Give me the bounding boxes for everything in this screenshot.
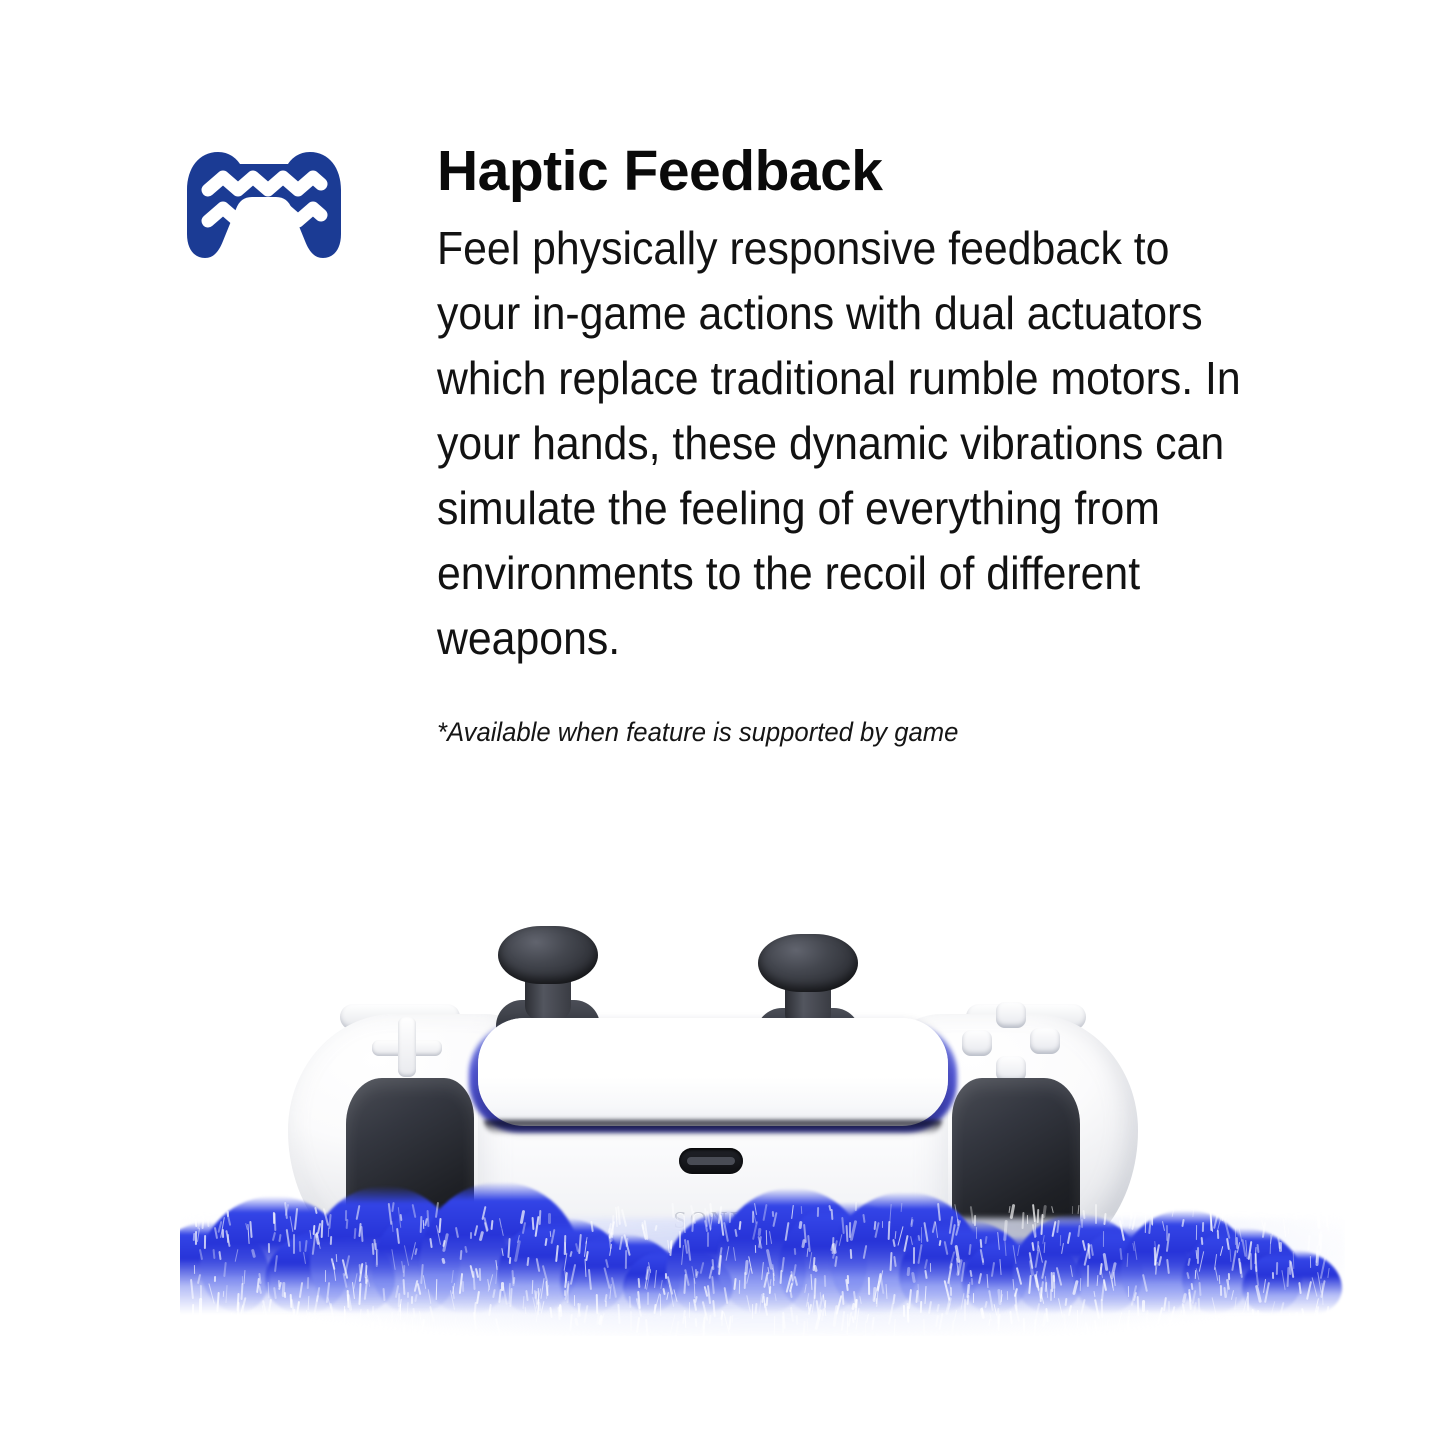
fur-fiber	[855, 1202, 857, 1211]
right-stick-cap	[758, 934, 858, 992]
fur-fiber	[1316, 1210, 1320, 1229]
fur-fiber	[728, 1213, 730, 1223]
fur-fiber	[707, 1232, 709, 1247]
fur-fiber	[1220, 1285, 1222, 1296]
fur-fiber	[1279, 1242, 1282, 1252]
fur-fiber	[1154, 1259, 1156, 1274]
fur-fiber	[817, 1207, 819, 1217]
fur-fiber	[679, 1231, 681, 1248]
fur-fiber	[1168, 1301, 1170, 1312]
square-button	[962, 1030, 992, 1056]
fur-fiber	[1193, 1317, 1195, 1329]
fur-fiber	[628, 1295, 630, 1307]
fur-fiber	[422, 1220, 424, 1229]
feature-title: Haptic Feedback	[437, 140, 1317, 202]
fur-fiber	[206, 1214, 209, 1227]
fur-fiber	[647, 1292, 650, 1305]
fur-fiber	[479, 1268, 481, 1281]
fur-fiber	[194, 1265, 195, 1274]
fur-fiber	[689, 1302, 690, 1318]
fur-fiber	[548, 1213, 551, 1224]
fur-fiber	[1142, 1300, 1145, 1312]
fur-fiber	[849, 1222, 851, 1238]
fur-fiber	[1246, 1292, 1248, 1311]
fur-fiber	[1078, 1205, 1080, 1214]
fur-fiber	[950, 1287, 952, 1296]
fur-fiber	[293, 1234, 295, 1254]
gamepad-waves-icon	[181, 146, 347, 261]
haptic-vibration-fur	[180, 1114, 1345, 1336]
page-root: Haptic Feedback Feel physically responsi…	[0, 0, 1445, 1445]
fur-fiber	[630, 1311, 632, 1331]
fur-fiber	[1136, 1296, 1139, 1316]
fur-fiber	[1100, 1299, 1103, 1318]
feature-text-column: Haptic Feedback Feel physically responsi…	[437, 140, 1317, 749]
fur-fiber	[972, 1293, 973, 1303]
fur-fiber	[402, 1265, 404, 1277]
fur-fiber	[1072, 1206, 1074, 1214]
fur-fiber	[921, 1227, 922, 1243]
fur-fiber	[672, 1203, 675, 1218]
fur-fiber	[625, 1250, 628, 1269]
fur-fiber	[371, 1243, 374, 1255]
fur-fiber	[267, 1242, 269, 1252]
fur-fiber	[930, 1263, 931, 1272]
circle-button	[1030, 1028, 1060, 1054]
fur-fiber	[1283, 1314, 1285, 1326]
photo-stage: SONY	[180, 896, 1345, 1336]
dualsense-controller-photo: SONY	[180, 896, 1345, 1336]
fur-fiber	[1129, 1207, 1132, 1219]
fur-fiber	[670, 1241, 672, 1249]
fur-fiber	[1295, 1312, 1298, 1326]
feature-description: Feel physically responsive feedback to y…	[437, 216, 1251, 671]
fur-fiber	[531, 1217, 534, 1230]
fur-fiber	[411, 1296, 413, 1304]
fur-fiber	[298, 1316, 299, 1327]
fur-fiber	[821, 1309, 823, 1316]
fur-fiber	[419, 1216, 421, 1233]
fur-fiber	[849, 1249, 851, 1259]
fur-fiber	[1264, 1204, 1266, 1219]
fur-fiber	[1082, 1210, 1085, 1219]
fur-fiber	[574, 1295, 575, 1306]
d-pad-vertical-arm	[398, 1017, 416, 1077]
fur-fiber	[887, 1221, 890, 1240]
fur-fiber	[1001, 1290, 1002, 1302]
fur-fiber	[913, 1247, 915, 1264]
fur-fiber	[345, 1210, 347, 1221]
fur-fiber	[819, 1292, 821, 1300]
fur-fiber	[794, 1248, 797, 1255]
fur-fiber	[299, 1241, 301, 1252]
fur-fiber	[1283, 1206, 1286, 1215]
fur-fiber	[325, 1270, 326, 1282]
fur-fiber	[1197, 1247, 1199, 1264]
fur-fiber	[919, 1301, 922, 1313]
fur-fiber	[1043, 1205, 1047, 1219]
fur-fiber	[875, 1298, 877, 1304]
fur-fiber	[1079, 1278, 1081, 1291]
feature-footnote: *Available when feature is supported by …	[437, 715, 1273, 749]
fur-fiber	[1051, 1206, 1054, 1213]
fur-fiber	[752, 1211, 754, 1223]
touchpad	[478, 1018, 948, 1126]
fur-fiber	[273, 1213, 276, 1231]
fur-fiber	[766, 1230, 768, 1245]
fur-fiber	[281, 1282, 284, 1297]
d-pad	[362, 1010, 458, 1084]
fur-fiber	[199, 1298, 202, 1318]
fur-fiber	[1325, 1211, 1327, 1227]
triangle-button	[996, 1002, 1026, 1028]
fur-fiber	[327, 1228, 329, 1237]
fur-fiber	[1217, 1230, 1219, 1239]
fur-fiber	[865, 1321, 866, 1336]
fur-fiber	[1087, 1265, 1089, 1287]
left-stick-cap	[498, 926, 598, 984]
fur-fiber	[1201, 1222, 1204, 1232]
